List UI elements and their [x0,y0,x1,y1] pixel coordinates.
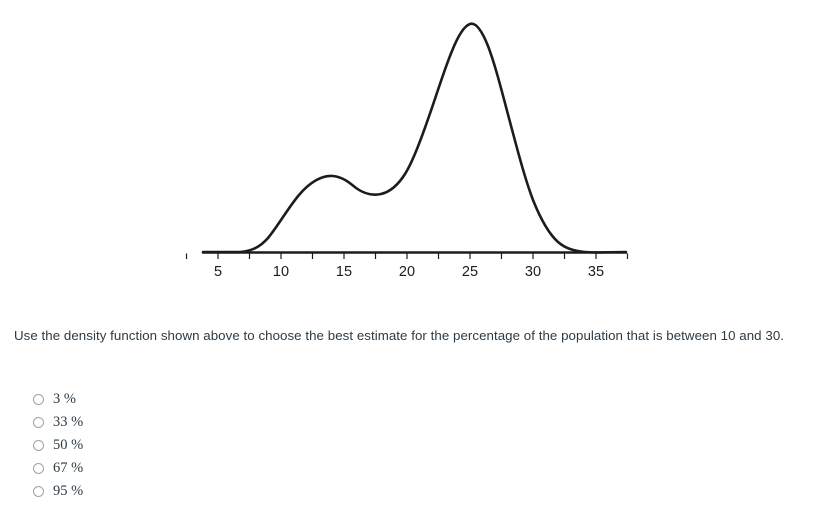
x-tick-label-5: 5 [214,264,222,280]
question-prompt: Use the density function shown above to … [14,327,814,345]
answer-options-list: 3 % 33 % 50 % 67 % 95 % [33,388,333,503]
answer-option-label: 67 % [53,461,83,476]
x-tick-label-20: 20 [399,264,415,280]
answer-option-67[interactable]: 67 % [33,457,333,480]
radio-button-icon[interactable] [33,440,44,451]
x-tick-label-25: 25 [462,264,478,280]
density-curve [203,24,626,253]
answer-option-50[interactable]: 50 % [33,434,333,457]
answer-option-label: 95 % [53,484,83,499]
radio-button-icon[interactable] [33,394,44,405]
radio-button-icon[interactable] [33,417,44,428]
density-chart-svg: 5 10 15 20 25 30 35 [0,0,821,300]
density-function-figure: 5 10 15 20 25 30 35 [0,0,821,300]
answer-option-label: 33 % [53,415,83,430]
question-page: 5 10 15 20 25 30 35 Use the density func… [0,0,821,506]
x-tick-label-30: 30 [525,264,541,280]
x-tick-label-15: 15 [336,264,352,280]
answer-option-95[interactable]: 95 % [33,480,333,503]
radio-button-icon[interactable] [33,486,44,497]
x-tick-label-35: 35 [588,264,604,280]
x-tick-label-10: 10 [273,264,289,280]
answer-option-33[interactable]: 33 % [33,411,333,434]
answer-option-3[interactable]: 3 % [33,388,333,411]
answer-option-label: 3 % [53,392,76,407]
radio-button-icon[interactable] [33,463,44,474]
answer-option-label: 50 % [53,438,83,453]
x-axis-tick-labels: 5 10 15 20 25 30 35 [214,264,604,280]
x-axis-ticks [187,254,628,260]
